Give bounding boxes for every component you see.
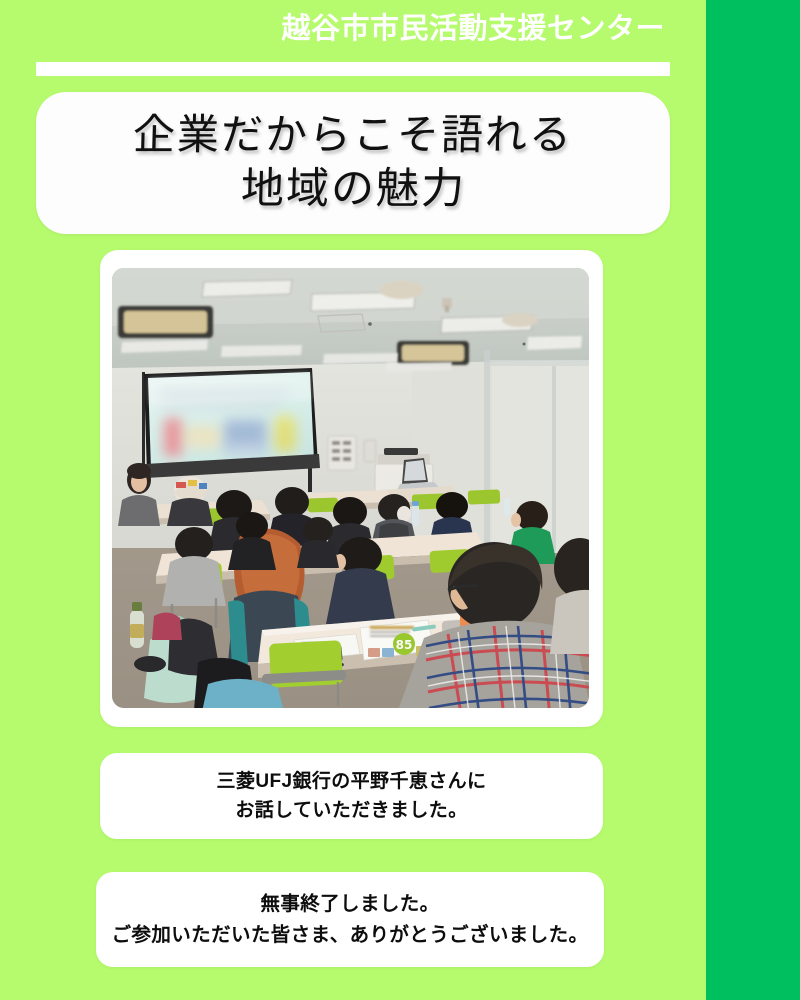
poster-page: 越谷市市民活動支援センター 企業だからこそ語れる 地域の魅力	[0, 0, 800, 1000]
photo-card: 85	[100, 250, 603, 727]
header-divider-rule	[36, 62, 670, 76]
right-accent-strip	[706, 0, 800, 1000]
header-title: 越谷市市民活動支援センター	[281, 14, 665, 46]
caption-card-closing-note: 無事終了しました。 ご参加いただいた皆さま、ありがとうございました。	[96, 872, 604, 967]
title-line-2: 地域の魅力	[240, 162, 466, 216]
caption-closing-line-1: 無事終了しました。	[260, 889, 439, 919]
seminar-photo: 85	[112, 268, 589, 708]
title-card: 企業だからこそ語れる 地域の魅力	[36, 92, 670, 234]
caption-speaker-line-2: お話していただきました。	[235, 796, 467, 825]
caption-closing-line-2: ご参加いただいた皆さま、ありがとうございました。	[112, 920, 589, 950]
title-line-1: 企業だからこそ語れる	[132, 109, 573, 162]
header: 越谷市市民活動支援センター	[0, 14, 668, 46]
caption-speaker-line-1: 三菱UFJ銀行の平野千恵さんに	[217, 767, 487, 796]
caption-card-speaker-credit: 三菱UFJ銀行の平野千恵さんに お話していただきました。	[100, 753, 603, 839]
